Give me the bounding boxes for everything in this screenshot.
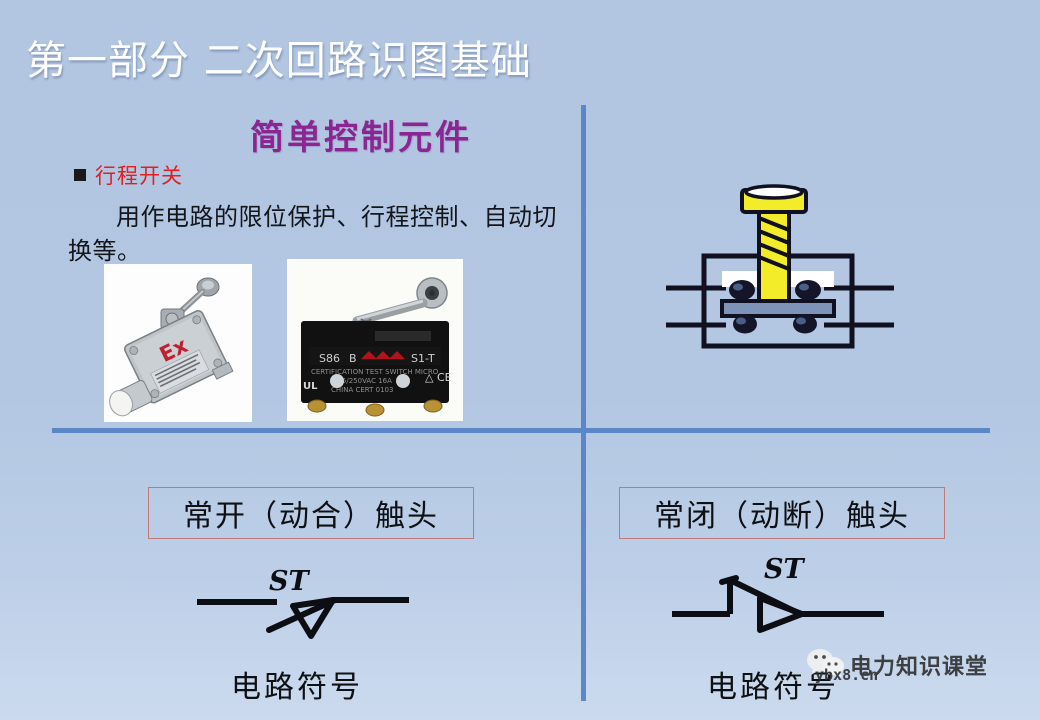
bullet-label: 行程开关 [95,160,183,190]
explosion-proof-limit-switch-photo: Ex [104,264,252,422]
section-subtitle: 简单控制元件 [250,110,472,159]
page-title: 第一部分 二次回路识图基础 [26,28,532,86]
svg-text:△ CE: △ CE [425,371,452,384]
roller-lever-micro-switch-photo: S86 B S1-T CERTIFICATION TEST SWITCH MIC… [287,259,463,421]
svg-text:CERTIFICATION TEST SWITCH MICR: CERTIFICATION TEST SWITCH MICRO [311,368,439,376]
normally-open-contact-label-box: 常开（动合）触头 [148,487,474,539]
normally-closed-limit-switch-symbol: ST [672,552,888,656]
horizontal-divider [52,428,990,433]
watermark-url: ybx8.cn [815,666,878,684]
svg-text:ST: ST [764,554,805,585]
slide-canvas: 第一部分 二次回路识图基础 简单控制元件 行程开关 用作电路的限位保护、行程控制… [0,0,1040,720]
watermark: 电力知识课堂 ybx8.cn [805,648,988,682]
svg-text:UL: UL [303,381,318,392]
svg-text:CHINA CERT 0103: CHINA CERT 0103 [331,386,393,394]
normally-open-limit-switch-symbol: ST [195,560,411,656]
bullet-row: 行程开关 [74,160,183,190]
vertical-divider [581,105,586,701]
normally-closed-contact-label-box: 常闭（动断）触头 [619,487,945,539]
normally-open-circuit-symbol-caption: 电路符号 [231,662,363,706]
svg-text:S86: S86 [319,352,340,365]
svg-text:B: B [349,352,357,365]
body-paragraph: 用作电路的限位保护、行程控制、自动切换等。 [68,200,568,268]
svg-text:ST: ST [269,566,310,597]
square-bullet-icon [74,169,86,181]
plunger-switch-mechanism-diagram [666,178,906,404]
svg-text:S1-T: S1-T [411,352,435,365]
